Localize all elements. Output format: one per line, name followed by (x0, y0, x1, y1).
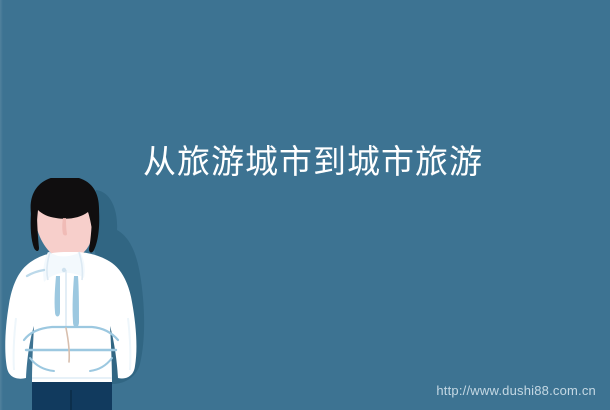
person-illustration (0, 178, 160, 410)
drawstring-right (73, 276, 79, 327)
page-title: 从旅游城市到城市旅游 (0, 136, 610, 188)
image-canvas: 从旅游城市到城市旅游 http://www.dushi88.com.cn (0, 0, 610, 410)
hood-eyelet (62, 268, 66, 272)
source-watermark: http://www.dushi88.com.cn (436, 383, 596, 399)
